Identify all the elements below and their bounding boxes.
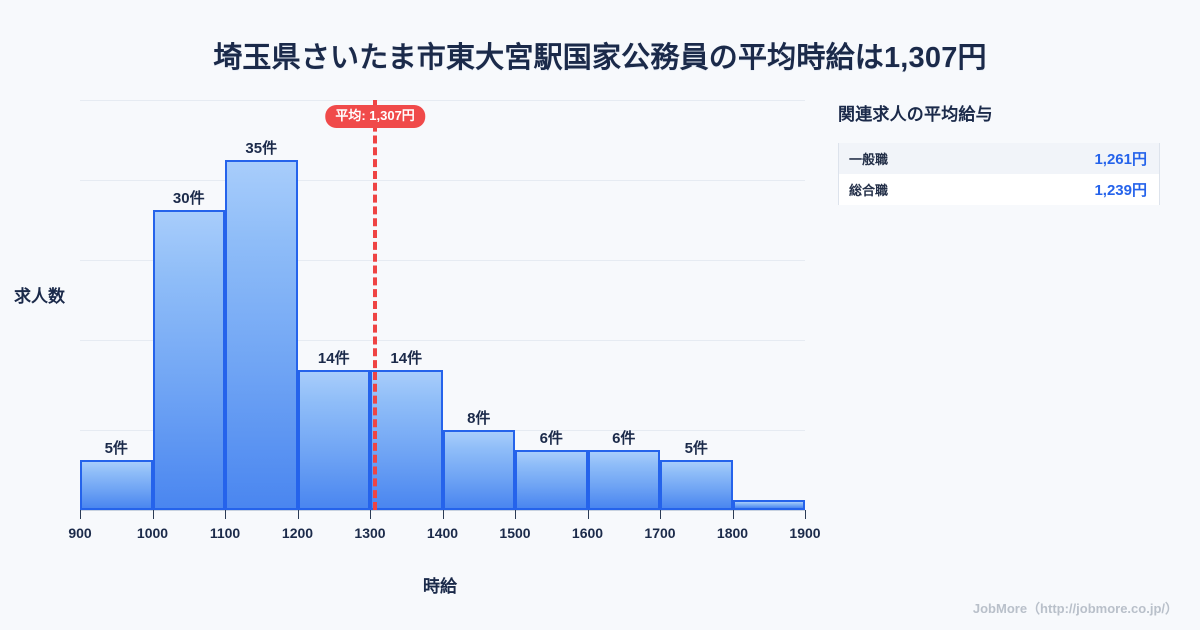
histogram-plot-area: 5件30件35件14件14件8件6件6件5件	[80, 100, 805, 510]
related-salary-table: 一般職1,261円総合職1,239円	[838, 143, 1160, 205]
y-axis-label: 求人数	[14, 282, 65, 307]
x-axis-tick-label: 1600	[572, 525, 603, 541]
x-axis-tick-label: 1800	[717, 525, 748, 541]
histogram-bar	[733, 500, 806, 510]
table-row: 総合職1,239円	[839, 174, 1159, 205]
x-axis-tick	[80, 510, 81, 519]
x-axis-tick	[515, 510, 516, 519]
x-axis-tick-label: 1000	[137, 525, 168, 541]
x-axis-tick	[153, 510, 154, 519]
histogram-bar	[515, 450, 588, 510]
histogram-bar	[225, 160, 298, 510]
gridline	[80, 180, 805, 181]
x-axis-tick-label: 1700	[644, 525, 675, 541]
x-axis-tick	[733, 510, 734, 519]
x-axis-tick-label: 1400	[427, 525, 458, 541]
page-title: 埼玉県さいたま市東大宮駅国家公務員の平均時給は1,307円	[0, 34, 1200, 76]
bar-value-label: 14件	[298, 347, 371, 368]
x-axis-tick-label: 1100	[210, 525, 240, 541]
bar-value-label: 6件	[588, 427, 661, 448]
x-axis-label: 時給	[0, 572, 880, 597]
x-axis-tick-label: 900	[68, 525, 91, 541]
row-value: 1,239円	[1094, 179, 1147, 200]
x-axis-tick	[225, 510, 226, 519]
bar-value-label: 5件	[80, 437, 153, 458]
x-axis-tick	[443, 510, 444, 519]
x-axis-tick	[805, 510, 806, 519]
histogram-bar	[660, 460, 733, 510]
average-badge: 平均: 1,307円	[325, 105, 424, 128]
histogram-bar	[370, 370, 443, 510]
x-axis-tick-label: 1500	[499, 525, 530, 541]
histogram-bar	[153, 210, 226, 510]
x-axis-tick-label: 1300	[354, 525, 385, 541]
x-axis-tick	[370, 510, 371, 519]
watermark: JobMore（http://jobmore.co.jp/）	[973, 598, 1178, 617]
row-value: 1,261円	[1094, 148, 1147, 169]
histogram-bar	[80, 460, 153, 510]
row-label: 一般職	[849, 149, 888, 168]
bar-value-label: 30件	[153, 187, 226, 208]
panel-title: 関連求人の平均給与	[838, 100, 1168, 125]
chart-canvas: 埼玉県さいたま市東大宮駅国家公務員の平均時給は1,307円 5件30件35件14…	[0, 0, 1200, 630]
bar-value-label: 8件	[443, 407, 516, 428]
table-row: 一般職1,261円	[839, 143, 1159, 174]
histogram-bar	[298, 370, 371, 510]
x-axis-tick	[660, 510, 661, 519]
x-axis-tick	[298, 510, 299, 519]
bar-value-label: 14件	[370, 347, 443, 368]
bar-value-label: 5件	[660, 437, 733, 458]
x-axis-tick-label: 1200	[282, 525, 313, 541]
x-axis-tick	[588, 510, 589, 519]
bar-value-label: 35件	[225, 137, 298, 158]
gridline	[80, 100, 805, 101]
histogram-bar	[443, 430, 516, 510]
related-salary-panel: 関連求人の平均給与 一般職1,261円総合職1,239円	[838, 100, 1168, 205]
x-axis-tick-label: 1900	[789, 525, 820, 541]
average-line	[373, 100, 377, 510]
row-label: 総合職	[849, 180, 888, 199]
bar-value-label: 6件	[515, 427, 588, 448]
histogram-bar	[588, 450, 661, 510]
